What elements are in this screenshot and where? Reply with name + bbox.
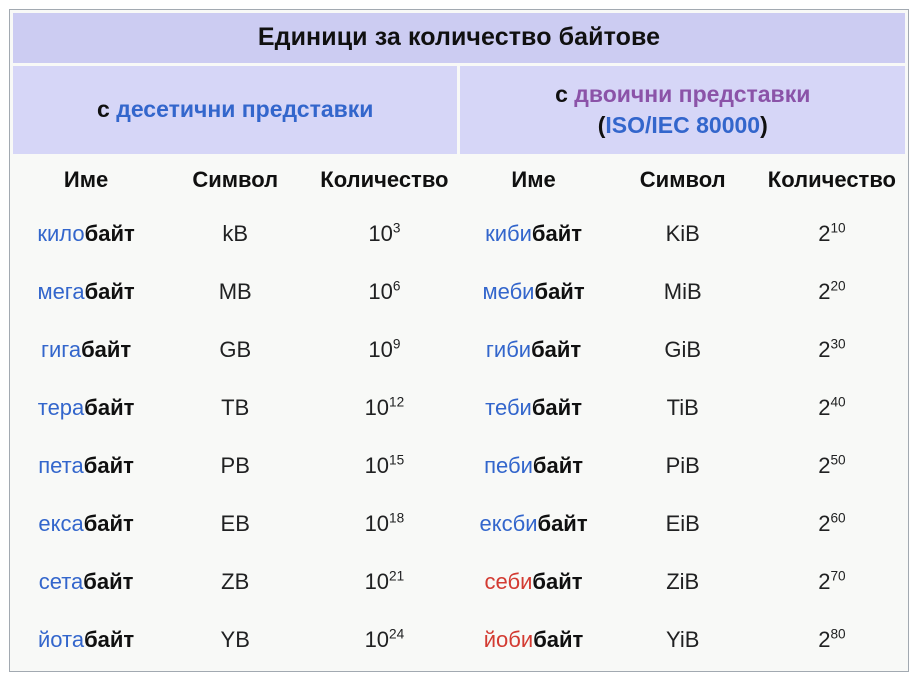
quantity-exponent: 50 — [830, 453, 845, 468]
group-header-binary-lead: с — [555, 81, 574, 107]
quantity-exponent: 18 — [389, 511, 404, 526]
unit-name-prefix: кило — [37, 221, 84, 246]
unit-name-decimal[interactable]: гигабайт — [13, 323, 159, 378]
unit-name-base: байт — [533, 627, 583, 652]
close-paren: ) — [760, 112, 768, 138]
unit-name-decimal[interactable]: килобайт — [13, 207, 159, 262]
quantity-exponent: 12 — [389, 395, 404, 410]
unit-name-prefix: пеби — [484, 453, 533, 478]
unit-name-prefix: гига — [41, 337, 81, 362]
quantity-exponent: 30 — [830, 337, 845, 352]
quantity-exponent: 60 — [830, 511, 845, 526]
unit-name-decimal[interactable]: сетабайт — [13, 555, 159, 610]
unit-name-prefix: меби — [482, 279, 534, 304]
table-row: йотабайтYB1024йобибайтYiB280 — [13, 613, 905, 668]
unit-name-prefix: екса — [38, 511, 83, 536]
unit-name-prefix: киби — [485, 221, 532, 246]
table-title: Единици за количество байтове — [13, 13, 905, 63]
column-header-name-binary: Име — [460, 157, 606, 204]
table-row: сетабайтZB1021себибайтZiB270 — [13, 555, 905, 610]
group-header-binary: с двоични представки (ISO/IEC 80000) — [460, 66, 905, 154]
unit-name-binary[interactable]: тебибайт — [460, 381, 606, 436]
unit-name-binary[interactable]: себибайт — [460, 555, 606, 610]
unit-name-base: байт — [81, 337, 131, 362]
unit-symbol-decimal: kB — [162, 207, 308, 262]
quantity-exponent: 70 — [830, 569, 845, 584]
unit-quantity-binary: 230 — [759, 323, 905, 378]
column-header-symbol-binary: Символ — [610, 157, 756, 204]
quantity-exponent: 40 — [830, 395, 845, 410]
unit-name-base: байт — [84, 627, 134, 652]
unit-symbol-decimal: MB — [162, 265, 308, 320]
unit-name-base: байт — [84, 453, 134, 478]
unit-symbol-decimal: PB — [162, 439, 308, 494]
quantity-exponent: 80 — [830, 627, 845, 642]
unit-name-prefix: себи — [485, 569, 533, 594]
unit-quantity-decimal: 109 — [311, 323, 457, 378]
quantity-exponent: 24 — [389, 627, 404, 642]
unit-quantity-binary: 210 — [759, 207, 905, 262]
unit-name-base: байт — [537, 511, 587, 536]
quantity-mantissa: 2 — [818, 511, 830, 536]
column-header-symbol-decimal: Символ — [162, 157, 308, 204]
quantity-mantissa: 2 — [818, 337, 830, 362]
quantity-exponent: 6 — [393, 279, 401, 294]
unit-symbol-binary: KiB — [610, 207, 756, 262]
unit-quantity-binary: 220 — [759, 265, 905, 320]
table-row: килобайтkB103кибибайтKiB210 — [13, 207, 905, 262]
unit-name-prefix: пета — [38, 453, 83, 478]
group-header-decimal-line1: с десетични представки — [13, 94, 457, 125]
unit-name-binary[interactable]: йобибайт — [460, 613, 606, 668]
group-header-decimal: с десетични представки — [13, 66, 457, 154]
unit-name-binary[interactable]: гибибайт — [460, 323, 606, 378]
unit-quantity-binary: 260 — [759, 497, 905, 552]
unit-symbol-binary: PiB — [610, 439, 756, 494]
unit-name-decimal[interactable]: йотабайт — [13, 613, 159, 668]
quantity-mantissa: 2 — [818, 453, 830, 478]
byte-units-table: Единици за количество байтове с десетичн… — [10, 10, 908, 671]
quantity-exponent: 3 — [393, 221, 401, 236]
column-header-name-decimal: Име — [13, 157, 159, 204]
link-iso-iec-80000[interactable]: ISO/IEC 80000 — [605, 112, 760, 138]
unit-quantity-decimal: 1021 — [311, 555, 457, 610]
unit-quantity-binary: 280 — [759, 613, 905, 668]
unit-symbol-binary: YiB — [610, 613, 756, 668]
unit-name-base: байт — [534, 279, 584, 304]
unit-symbol-binary: ZiB — [610, 555, 756, 610]
unit-name-base: байт — [532, 395, 582, 420]
unit-quantity-decimal: 1012 — [311, 381, 457, 436]
unit-name-prefix: мега — [37, 279, 84, 304]
quantity-mantissa: 10 — [368, 337, 392, 362]
unit-symbol-decimal: YB — [162, 613, 308, 668]
unit-quantity-binary: 270 — [759, 555, 905, 610]
unit-name-prefix: теби — [485, 395, 532, 420]
quantity-mantissa: 10 — [365, 627, 389, 652]
unit-name-decimal[interactable]: петабайт — [13, 439, 159, 494]
table-row: мегабайтMB106мебибайтMiB220 — [13, 265, 905, 320]
group-header-decimal-lead: с — [97, 96, 116, 122]
link-decimal-prefixes[interactable]: десетични представки — [116, 96, 373, 122]
group-header-binary-line2: (ISO/IEC 80000) — [460, 110, 905, 141]
unit-name-prefix: гиби — [486, 337, 531, 362]
table-row: терабайтTB1012тебибайтTiB240 — [13, 381, 905, 436]
unit-quantity-decimal: 103 — [311, 207, 457, 262]
unit-name-binary[interactable]: кибибайт — [460, 207, 606, 262]
table-body: Единици за количество байтове с десетичн… — [13, 13, 905, 668]
unit-symbol-binary: MiB — [610, 265, 756, 320]
unit-quantity-binary: 250 — [759, 439, 905, 494]
unit-name-binary[interactable]: мебибайт — [460, 265, 606, 320]
unit-symbol-decimal: GB — [162, 323, 308, 378]
quantity-mantissa: 2 — [818, 569, 830, 594]
unit-name-base: байт — [85, 279, 135, 304]
unit-name-base: байт — [83, 569, 133, 594]
unit-name-base: байт — [84, 395, 134, 420]
unit-name-decimal[interactable]: ексабайт — [13, 497, 159, 552]
quantity-mantissa: 10 — [365, 395, 389, 420]
quantity-exponent: 20 — [830, 279, 845, 294]
unit-symbol-decimal: TB — [162, 381, 308, 436]
unit-quantity-decimal: 1018 — [311, 497, 457, 552]
quantity-exponent: 10 — [830, 221, 845, 236]
unit-name-base: байт — [84, 511, 134, 536]
table-row: петабайтPB1015пебибайтPiB250 — [13, 439, 905, 494]
byte-units-infobox: Единици за количество байтове с десетичн… — [9, 9, 909, 672]
unit-name-base: байт — [85, 221, 135, 246]
quantity-mantissa: 2 — [818, 395, 830, 420]
quantity-mantissa: 2 — [818, 627, 830, 652]
quantity-exponent: 21 — [389, 569, 404, 584]
table-row: гигабайтGB109гибибайтGiB230 — [13, 323, 905, 378]
quantity-mantissa: 10 — [365, 453, 389, 478]
unit-symbol-decimal: EB — [162, 497, 308, 552]
unit-name-base: байт — [533, 453, 583, 478]
link-binary-prefixes[interactable]: двоични представки — [574, 81, 810, 107]
quantity-mantissa: 2 — [818, 279, 830, 304]
quantity-mantissa: 10 — [368, 279, 392, 304]
unit-symbol-binary: GiB — [610, 323, 756, 378]
unit-name-prefix: йоби — [484, 627, 533, 652]
unit-quantity-decimal: 1024 — [311, 613, 457, 668]
quantity-exponent: 9 — [393, 337, 401, 352]
unit-symbol-binary: EiB — [610, 497, 756, 552]
quantity-exponent: 15 — [389, 453, 404, 468]
unit-name-prefix: йота — [38, 627, 84, 652]
quantity-mantissa: 10 — [368, 221, 392, 246]
unit-name-prefix: ексби — [479, 511, 537, 536]
table-row: ексабайтEB1018ексбибайтEiB260 — [13, 497, 905, 552]
unit-symbol-decimal: ZB — [162, 555, 308, 610]
title-row: Единици за количество байтове — [13, 13, 905, 63]
quantity-mantissa: 10 — [365, 511, 389, 536]
quantity-mantissa: 10 — [365, 569, 389, 594]
unit-name-decimal[interactable]: мегабайт — [13, 265, 159, 320]
column-header-row: Име Символ Количество Име Символ Количес… — [13, 157, 905, 204]
unit-name-prefix: сета — [39, 569, 84, 594]
unit-quantity-decimal: 106 — [311, 265, 457, 320]
unit-name-binary[interactable]: ексбибайт — [460, 497, 606, 552]
unit-name-decimal[interactable]: терабайт — [13, 381, 159, 436]
group-header-row: с десетични представки с двоични предста… — [13, 66, 905, 154]
unit-quantity-binary: 240 — [759, 381, 905, 436]
unit-name-binary[interactable]: пебибайт — [460, 439, 606, 494]
unit-name-prefix: тера — [38, 395, 85, 420]
quantity-mantissa: 2 — [818, 221, 830, 246]
unit-quantity-decimal: 1015 — [311, 439, 457, 494]
column-header-quantity-decimal: Количество — [311, 157, 457, 204]
group-header-binary-line1: с двоични представки — [460, 79, 905, 110]
unit-name-base: байт — [532, 221, 582, 246]
unit-name-base: байт — [532, 569, 582, 594]
column-header-quantity-binary: Количество — [759, 157, 905, 204]
unit-symbol-binary: TiB — [610, 381, 756, 436]
unit-name-base: байт — [531, 337, 581, 362]
